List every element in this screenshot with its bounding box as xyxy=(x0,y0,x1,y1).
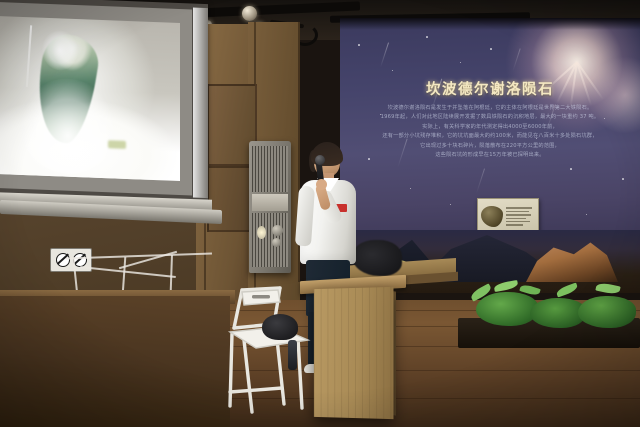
projection-screen-edge xyxy=(193,7,208,198)
microphone-head-icon[interactable] xyxy=(315,155,325,165)
air-conditioner-unit[interactable] xyxy=(249,141,291,273)
banner-top-shadow xyxy=(340,18,640,30)
placard-text-lines xyxy=(506,207,535,225)
banner-body-text: 坎波德尔谢洛陨石是发生于并坠落在阿根廷，它的主体在阿根廷是世界第二大铁陨石。 1… xyxy=(362,104,618,160)
projection-screen xyxy=(0,0,208,209)
foliage xyxy=(476,292,538,326)
lectern[interactable] xyxy=(314,287,394,419)
projection-surface xyxy=(0,2,192,196)
foliage xyxy=(578,296,636,328)
banner-body-line: 实际上，有关科学家的年代测定得出4000至6000年前， xyxy=(362,123,618,132)
projected-label-chip xyxy=(108,140,126,149)
placard-meteorite-icon xyxy=(481,206,503,227)
banner-body-line: 坎波德尔谢洛陨石是发生于并坠落在阿根廷，它的主体在阿根廷是世界第二大铁陨石。 xyxy=(362,104,618,113)
projected-highlight xyxy=(42,30,78,71)
projected-gravel-glow xyxy=(20,77,116,176)
banner-body-line: 还有一部分小坑残存堆积，它的坑坑面最大的约100米，而能见在八百米十多处陨石坑群… xyxy=(362,132,618,141)
projected-image xyxy=(0,16,180,181)
bag-on-floor xyxy=(262,314,298,340)
photo-scene: 坎波德尔谢洛陨石 坎波德尔谢洛陨石是发生于并坠落在阿根廷，它的主体在阿根廷是世界… xyxy=(0,0,640,427)
banner-body-line: 这些陨石坑的形成早在15万年被已探明出来。 xyxy=(362,151,618,160)
ac-control-panel[interactable] xyxy=(252,194,288,211)
projected-pointer-line xyxy=(26,25,32,87)
ac-grille-bottom xyxy=(252,213,288,267)
lectern-wood-grain xyxy=(314,287,394,419)
floor-lower-level xyxy=(0,296,230,427)
banner-body-line: 它出现过多十块石碎片，陨落散布在220平方公里的范围， xyxy=(362,142,618,151)
ac-grille-top xyxy=(252,146,288,192)
folding-chair[interactable] xyxy=(222,282,314,418)
banner-body-line: 1969年起，人们对此地区陆续展开发掘了数具铁陨石的沉积地层，最大的一块重约 3… xyxy=(362,113,618,122)
bottle-on-floor xyxy=(288,340,297,370)
banner-lit-rock-formation xyxy=(526,240,618,282)
ac-indicator-light xyxy=(257,226,266,239)
banner-headline: 坎波德尔谢洛陨石 xyxy=(340,78,640,99)
ac-knob-icon[interactable] xyxy=(272,225,283,236)
presenter-hand xyxy=(316,179,327,190)
ac-knob-icon[interactable] xyxy=(272,238,281,247)
spotlight-icon xyxy=(242,6,257,21)
